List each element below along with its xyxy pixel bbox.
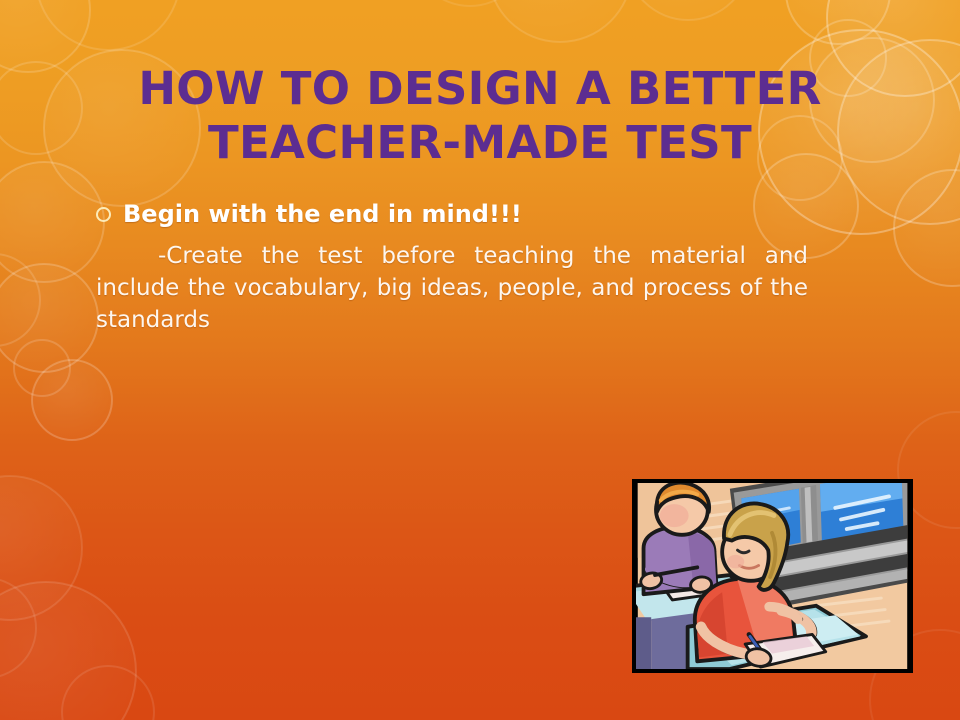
slide-title-line-1: HOW TO DESIGN A BETTER: [60, 62, 900, 116]
bullet-item-1-label: Begin with the end in mind!!!: [123, 198, 522, 230]
slide-body: Begin with the end in mind!!! -Create th…: [96, 198, 826, 336]
clipart-svg: [636, 483, 909, 669]
bullet-item-1: Begin with the end in mind!!!: [96, 198, 826, 230]
hollow-circle-bullet-icon: [96, 207, 111, 222]
slide-title: HOW TO DESIGN A BETTER TEACHER-MADE TEST: [0, 62, 960, 170]
students-taking-test-image: [632, 479, 913, 673]
sub-paragraph-text: -Create the test before teaching the mat…: [96, 240, 808, 336]
slide-title-line-2: TEACHER-MADE TEST: [60, 116, 900, 170]
slide-canvas: HOW TO DESIGN A BETTER TEACHER-MADE TEST…: [0, 0, 960, 720]
